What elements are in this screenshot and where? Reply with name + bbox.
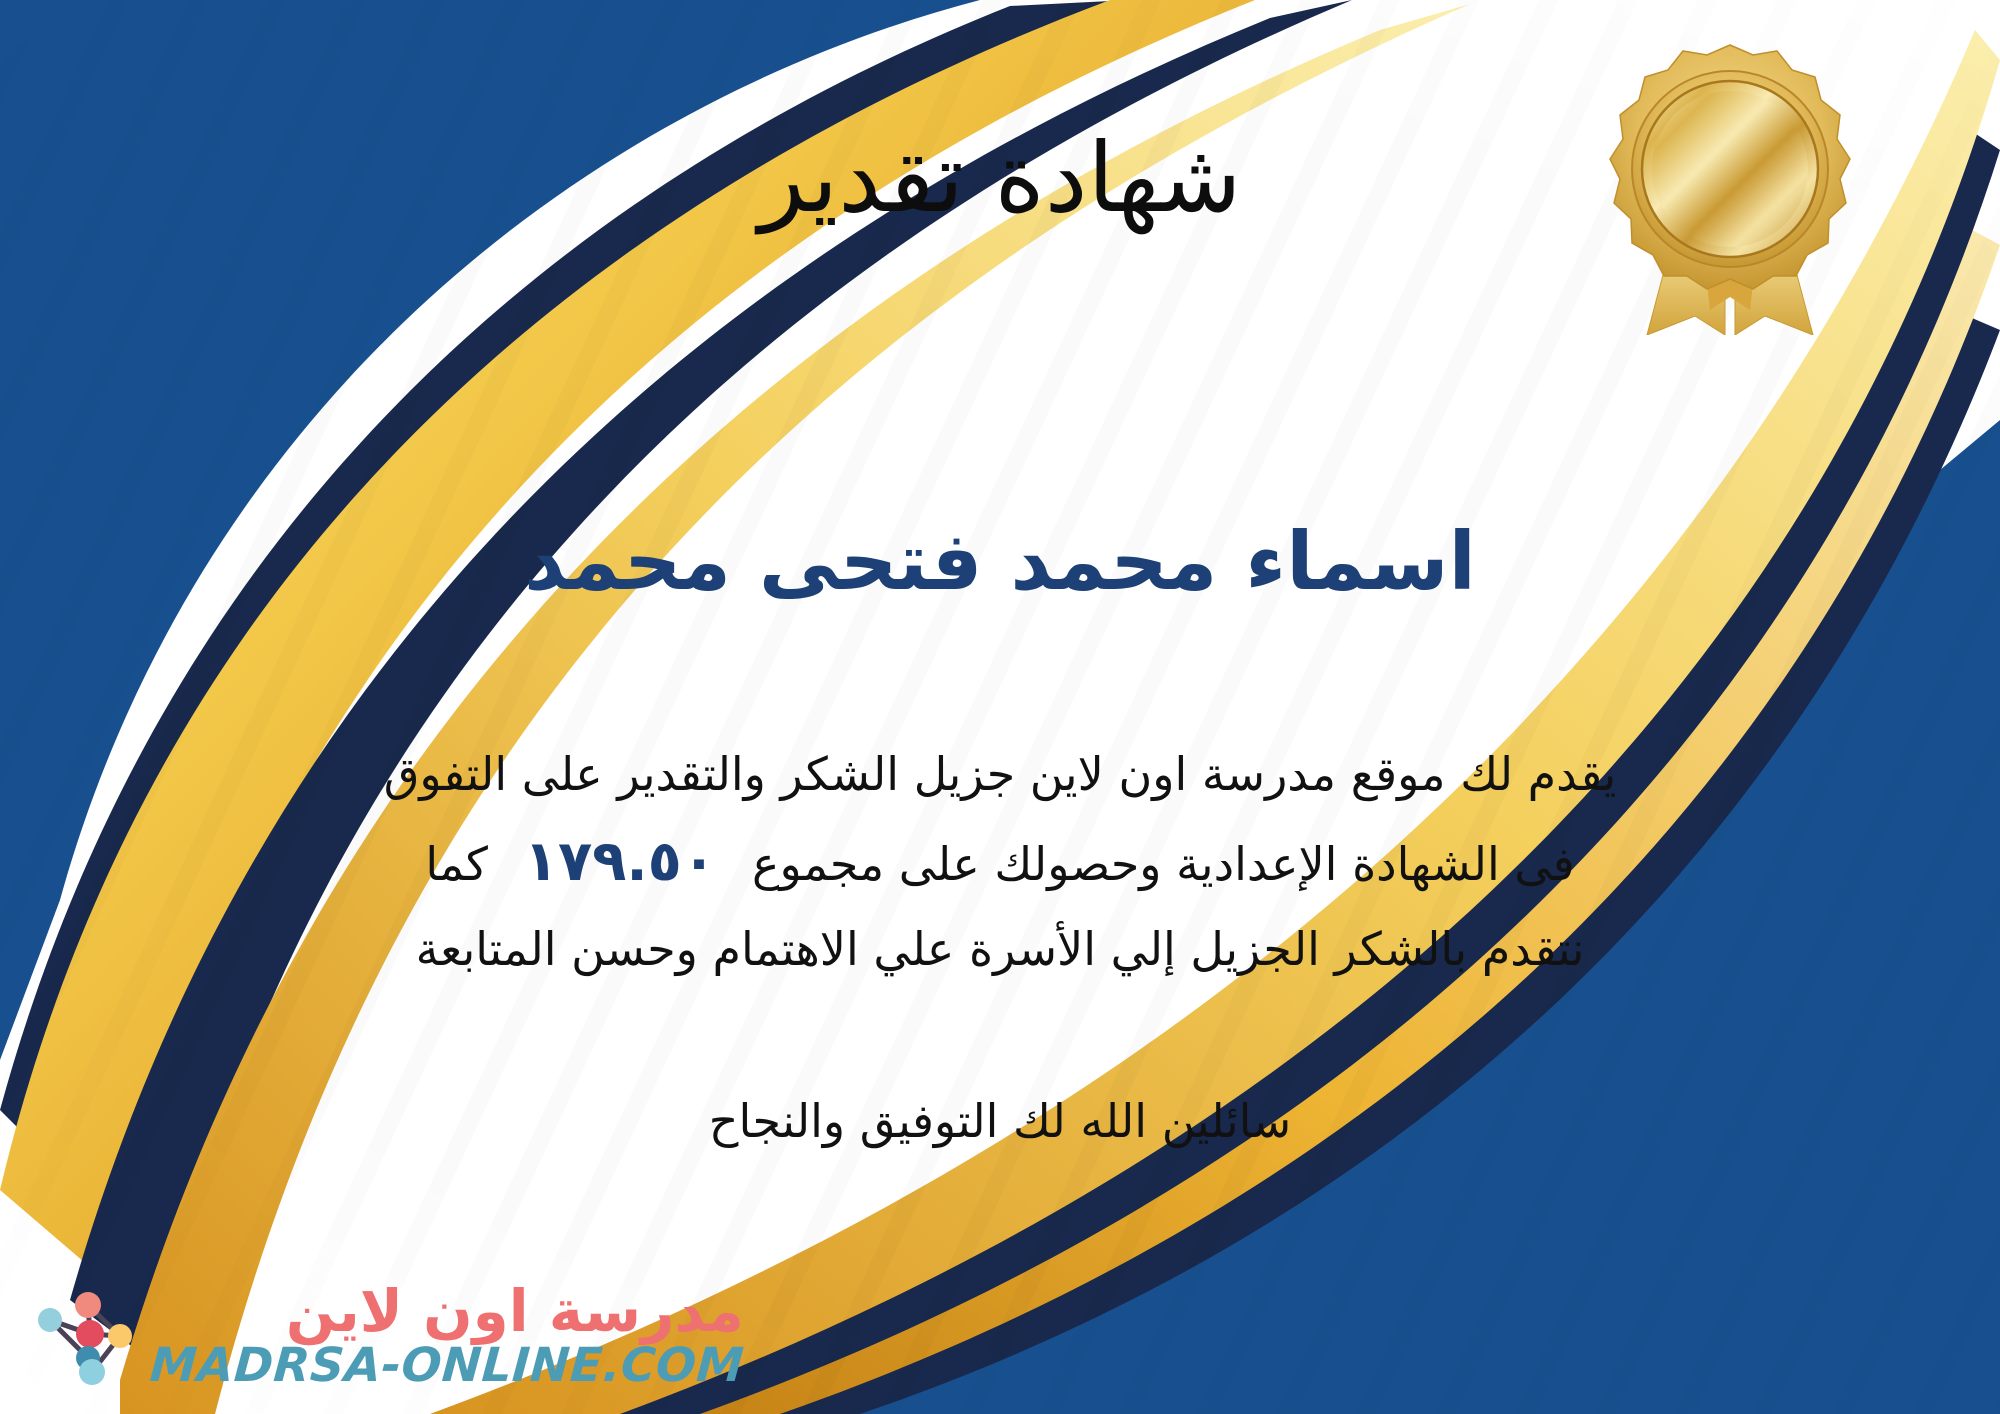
brand-logo[interactable]: مدرسة اون لاين MADRSA-ONLINE.COM bbox=[28, 1280, 744, 1392]
brand-website: MADRSA-ONLINE.COM bbox=[148, 1342, 745, 1390]
total-score-value: ١٧٩.٥٠ bbox=[488, 829, 752, 894]
certificate-body: يقدم لك موقع مدرسة اون لاين جزيل الشكر و… bbox=[60, 735, 1940, 990]
body-line-1: يقدم لك موقع مدرسة اون لاين جزيل الشكر و… bbox=[60, 735, 1940, 814]
brand-name-arabic: مدرسة اون لاين bbox=[286, 1282, 744, 1341]
body-line-3: نتقدم بالشكر الجزيل إلي الأسرة علي الاهت… bbox=[60, 910, 1940, 989]
certificate-card: شهادة تقدير اسماء محمد فتحى محمد يقدم لك… bbox=[0, 0, 2000, 1414]
network-graph-icon bbox=[28, 1280, 140, 1392]
student-name: اسماء محمد فتحى محمد bbox=[0, 510, 2000, 614]
body-line-2: فى الشهادة الإعدادية وحصولك على مجموع١٧٩… bbox=[60, 814, 1940, 910]
brand-text: مدرسة اون لاين MADRSA-ONLINE.COM bbox=[150, 1282, 744, 1389]
gold-award-medal-icon bbox=[1585, 35, 1875, 335]
closing-wish: سائلين الله لك التوفيق والنجاح bbox=[0, 1085, 2000, 1159]
body-line-2-suffix: كما bbox=[425, 837, 488, 891]
body-line-2-prefix: فى الشهادة الإعدادية وحصولك على مجموع bbox=[752, 837, 1575, 891]
